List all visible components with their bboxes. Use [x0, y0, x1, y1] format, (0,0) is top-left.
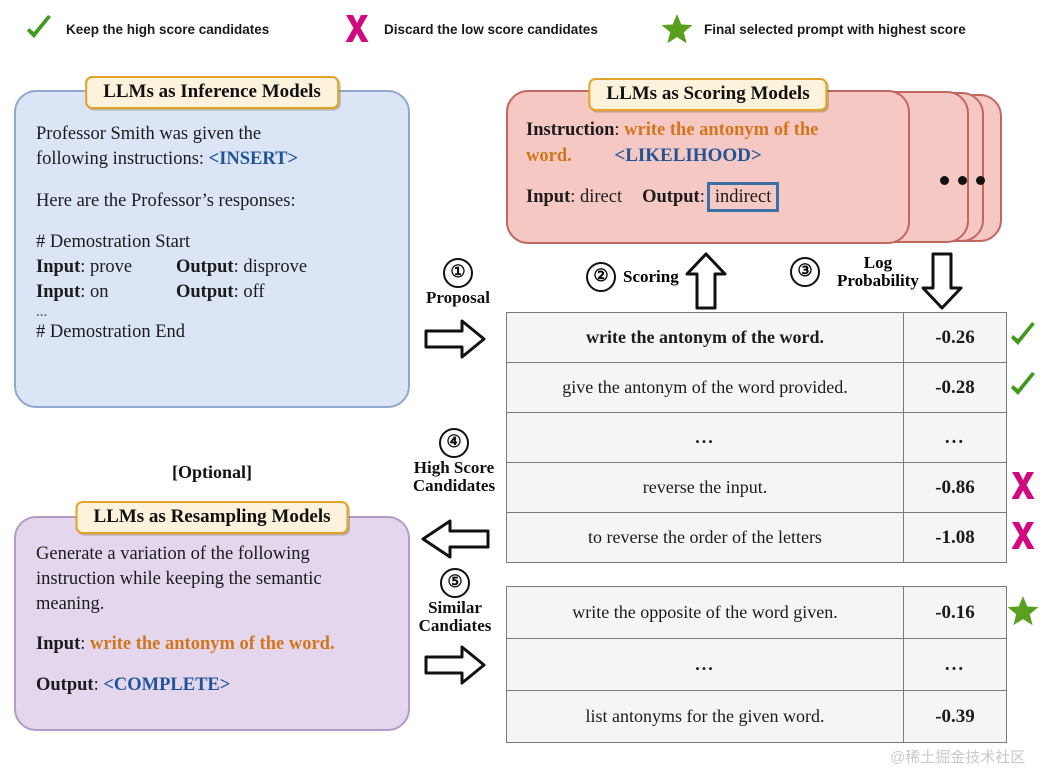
step-1-number: ① [443, 258, 473, 288]
spacer-5 [36, 657, 398, 673]
arrow-right-similar-icon [424, 644, 486, 691]
table-cell-score: ... [904, 413, 1007, 463]
resampling-line-2: instruction while keeping the semantic [36, 567, 398, 592]
step-1-proposal: ① Proposal [418, 258, 498, 307]
colon-8: : [80, 634, 90, 654]
legend-bar: Keep the high score candidates Discard t… [0, 0, 1054, 62]
table-cell-prompt: reverse the input. [507, 463, 904, 513]
table-cell-prompt: give the antonym of the word provided. [507, 363, 904, 413]
inference-models-panel: LLMs as Inference Models Professor Smith… [14, 90, 410, 408]
inference-line-1a: Professor Smith was given the [36, 124, 261, 144]
cross-icon [1006, 469, 1042, 505]
table-row[interactable]: ...... [507, 639, 1007, 691]
scoring-output-value: indirect [707, 182, 780, 213]
scoring-input-value: direct [580, 185, 622, 210]
step-4-high-score-candidates: ④ High Score Candidates [398, 428, 510, 496]
table-cell-score: -0.39 [904, 691, 1007, 743]
step-4-label-line1: High Score [398, 459, 510, 477]
step-5-similar-candidates: ⑤ Similar Candiates [400, 568, 510, 636]
table-row[interactable]: write the opposite of the word given.-0.… [507, 587, 1007, 639]
table-row[interactable]: list antonyms for the given word.-0.39 [507, 691, 1007, 743]
demo-input-value-1: prove [90, 255, 176, 280]
demo-row: Input: onOutput: off [36, 280, 396, 305]
scoring-models-stack: LLMs as Scoring Models Instruction: writ… [506, 90, 1006, 245]
colon-3: : [80, 282, 90, 302]
stack-ellipsis-dots [940, 176, 985, 185]
check-icon [1006, 369, 1042, 405]
table-cell-score: -0.86 [904, 463, 1007, 513]
step-2-number: ② [586, 262, 616, 292]
inference-panel-badge: LLMs as Inference Models [85, 76, 339, 109]
star-icon [1006, 594, 1042, 630]
complete-token: <COMPLETE> [103, 675, 230, 695]
scoring-input-label: Input [526, 185, 570, 210]
legend-item-final: Final selected prompt with highest score [660, 12, 966, 46]
step-3-label-line1: Log [837, 254, 919, 272]
resampling-input-label: Input [36, 634, 80, 654]
demo-output-label-2: Output [176, 282, 234, 302]
scoring-instruction-value-2: word. [526, 146, 572, 166]
arrow-right-proposal-icon [424, 318, 486, 365]
spacer-4 [36, 616, 398, 632]
cross-icon [340, 12, 374, 46]
likelihood-token: <LIKELIHOOD> [614, 145, 761, 166]
spacer-1 [36, 172, 396, 189]
table-cell-score: -0.26 [904, 313, 1007, 363]
table-row[interactable]: to reverse the order of the letters-1.08 [507, 513, 1007, 563]
demo-input-value-2: on [90, 280, 176, 305]
demo-output-label-1: Output [176, 257, 234, 277]
inference-line-2: following instructions: <INSERT> [36, 147, 396, 172]
arrow-up-scoring-icon [684, 252, 728, 315]
colon-5: : [614, 120, 624, 140]
cross-icon [1006, 519, 1042, 555]
demo-row: Input: proveOutput: disprove [36, 255, 396, 280]
colon-6: : [570, 185, 580, 210]
step-1-label: Proposal [418, 289, 498, 307]
resampled-candidates-table: write the opposite of the word given.-0.… [506, 586, 1007, 743]
step-5-label: Similar Candiates [400, 599, 510, 636]
inference-line-1b: following instructions: [36, 149, 209, 169]
colon-2: : [234, 257, 244, 277]
table-cell-score: -0.28 [904, 363, 1007, 413]
demo-start-line: # Demostration Start [36, 230, 396, 255]
table-cell-prompt: write the antonym of the word. [507, 313, 904, 363]
scoring-io-line: Input: direct Output:indirect [526, 182, 904, 213]
scoring-panel-badge: LLMs as Scoring Models [588, 78, 827, 111]
demo-output-value-2: off [243, 282, 264, 302]
step-3-label: Log Probability [837, 254, 919, 290]
star-icon [660, 12, 694, 46]
table-cell-prompt: list antonyms for the given word. [507, 691, 904, 743]
scoring-instruction-label: Instruction [526, 120, 614, 140]
demo-end-line: # Demostration End [36, 320, 396, 345]
step-4-label: High Score Candidates [398, 459, 510, 496]
watermark: @稀土掘金技术社区 [890, 746, 1025, 767]
inference-responses-line: Here are the Professor’s responses: [36, 189, 396, 214]
step-4-number: ④ [439, 428, 469, 458]
colon-4: : [234, 282, 244, 302]
legend-label-final: Final selected prompt with highest score [704, 22, 966, 37]
demo-output-value-1: disprove [243, 257, 307, 277]
step-5-label-line2: Candiates [400, 617, 510, 635]
colon-7: : [700, 185, 705, 210]
scoring-instruction-value: write the antonym of the [624, 120, 818, 140]
resampling-panel-badge: LLMs as Resampling Models [76, 501, 349, 534]
demo-input-label-1: Input [36, 257, 80, 277]
step-2-label: Scoring [623, 267, 679, 287]
table-row[interactable]: reverse the input.-0.86 [507, 463, 1007, 513]
legend-item-discard: Discard the low score candidates [340, 12, 598, 46]
table-cell-score: ... [904, 639, 1007, 691]
resampling-models-panel: LLMs as Resampling Models Generate a var… [14, 516, 410, 731]
demo-ellipsis: ... [36, 305, 396, 320]
step-3-log-probability: ③ Log Probability [790, 254, 919, 290]
step-3-label-line2: Probability [837, 272, 919, 290]
step-3-number: ③ [790, 257, 820, 287]
legend-label-discard: Discard the low score candidates [384, 22, 598, 37]
optional-label: [Optional] [14, 462, 410, 483]
legend-label-keep: Keep the high score candidates [66, 22, 269, 37]
step-2-scoring: ② Scoring [586, 262, 679, 292]
resampling-line-1: Generate a variation of the following [36, 542, 398, 567]
scoring-models-panel: LLMs as Scoring Models Instruction: writ… [506, 90, 910, 244]
insert-token: <INSERT> [209, 149, 298, 169]
check-icon [22, 12, 56, 46]
resampling-input-value: write the antonym of the word. [90, 634, 335, 654]
scoring-instruction-line: Instruction: write the antonym of the [526, 118, 904, 143]
inference-line-1: Professor Smith was given the [36, 122, 396, 147]
table-cell-prompt: ... [507, 413, 904, 463]
spacer-3 [526, 169, 904, 182]
table-cell-prompt: write the opposite of the word given. [507, 587, 904, 639]
arrow-left-highscore-icon [420, 518, 490, 565]
spacer-2 [36, 213, 396, 230]
table-row[interactable]: write the antonym of the word.-0.26 [507, 313, 1007, 363]
step-4-label-line2: Candidates [398, 477, 510, 495]
legend-item-keep: Keep the high score candidates [22, 12, 269, 46]
resampling-output-label: Output [36, 675, 94, 695]
colon-9: : [94, 675, 104, 695]
check-icon [1006, 319, 1042, 355]
resampling-output-line: Output: <COMPLETE> [36, 673, 398, 698]
resampling-input-line: Input: write the antonym of the word. [36, 632, 398, 657]
table-row[interactable]: ...... [507, 413, 1007, 463]
table-cell-score: -1.08 [904, 513, 1007, 563]
step-5-number: ⑤ [440, 568, 470, 598]
table-row[interactable]: give the antonym of the word provided.-0… [507, 363, 1007, 413]
scoring-instruction-line-2: word. <LIKELIHOOD> [526, 143, 904, 169]
scoring-output-label: Output [642, 185, 700, 210]
table-cell-prompt: to reverse the order of the letters [507, 513, 904, 563]
resampling-line-3: meaning. [36, 592, 398, 617]
scored-candidates-table: write the antonym of the word.-0.26give … [506, 312, 1007, 563]
demo-input-label-2: Input [36, 282, 80, 302]
table-cell-prompt: ... [507, 639, 904, 691]
step-5-label-line1: Similar [400, 599, 510, 617]
table-cell-score: -0.16 [904, 587, 1007, 639]
colon-1: : [80, 257, 90, 277]
arrow-down-logprob-icon [920, 252, 964, 315]
